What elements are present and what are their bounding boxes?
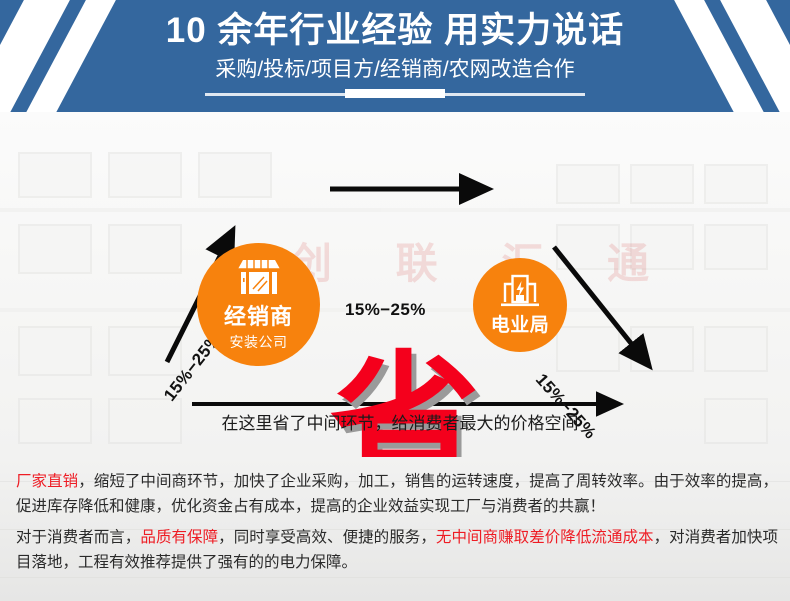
node-dealer-sub: 安装公司 [230, 332, 288, 352]
footer-p2-highlight-2: 无中间商赚取差价降低流通成本 [436, 529, 654, 546]
footer-p2-highlight-1: 品质有保障 [140, 529, 218, 546]
diagram-stage: 创 联 汇 通 15%−25% 15%−25% 15%−25% 省 在这里省了中… [0, 112, 790, 457]
footer-paragraph-1: 厂家直销，缩短了中间商环节，加快了企业采购，加工，销售的运转速度，提高了周转效率… [16, 469, 778, 519]
power-building-icon [499, 274, 541, 308]
save-character: 省 [330, 350, 480, 457]
arrow-label-dealer-to-power: 15%−25% [345, 300, 426, 320]
header-title: 10 余年行业经验 用实力说话 [0, 8, 790, 53]
node-dealer-name: 经销商 [224, 299, 293, 331]
shop-icon [234, 258, 284, 296]
footer-p2-a: 对于消费者而言， [16, 529, 140, 546]
footer-paragraph-2: 对于消费者而言，品质有保障，同时享受高效、便捷的服务，无中间商赚取差价降低流通成… [16, 525, 778, 575]
header-divider-center [345, 89, 445, 98]
node-dealer[interactable]: 经销商 安装公司 [197, 243, 320, 366]
page-root: 10 余年行业经验 用实力说话 采购/投标/项目方/经销商/农网改造合作 [0, 0, 790, 601]
page-header: 10 余年行业经验 用实力说话 采购/投标/项目方/经销商/农网改造合作 [0, 0, 790, 112]
footer-p1-rest: ，缩短了中间商环节，加快了企业采购，加工，销售的运转速度，提高了周转效率。由于效… [16, 473, 778, 515]
header-subtitle: 采购/投标/项目方/经销商/农网改造合作 [0, 56, 790, 84]
node-power-name: 电业局 [491, 310, 550, 337]
diagram-bottom-caption: 在这里省了中间环节，给消费者最大的价格空间 [200, 409, 600, 434]
footer-p1-highlight: 厂家直销 [16, 473, 78, 490]
footer-p2-b: ，同时享受高效、便捷的服务， [218, 529, 436, 546]
footer-description: 厂家直销，缩短了中间商环节，加快了企业采购，加工，销售的运转速度，提高了周转效率… [0, 457, 790, 601]
node-power-bureau[interactable]: 电业局 [473, 258, 567, 352]
